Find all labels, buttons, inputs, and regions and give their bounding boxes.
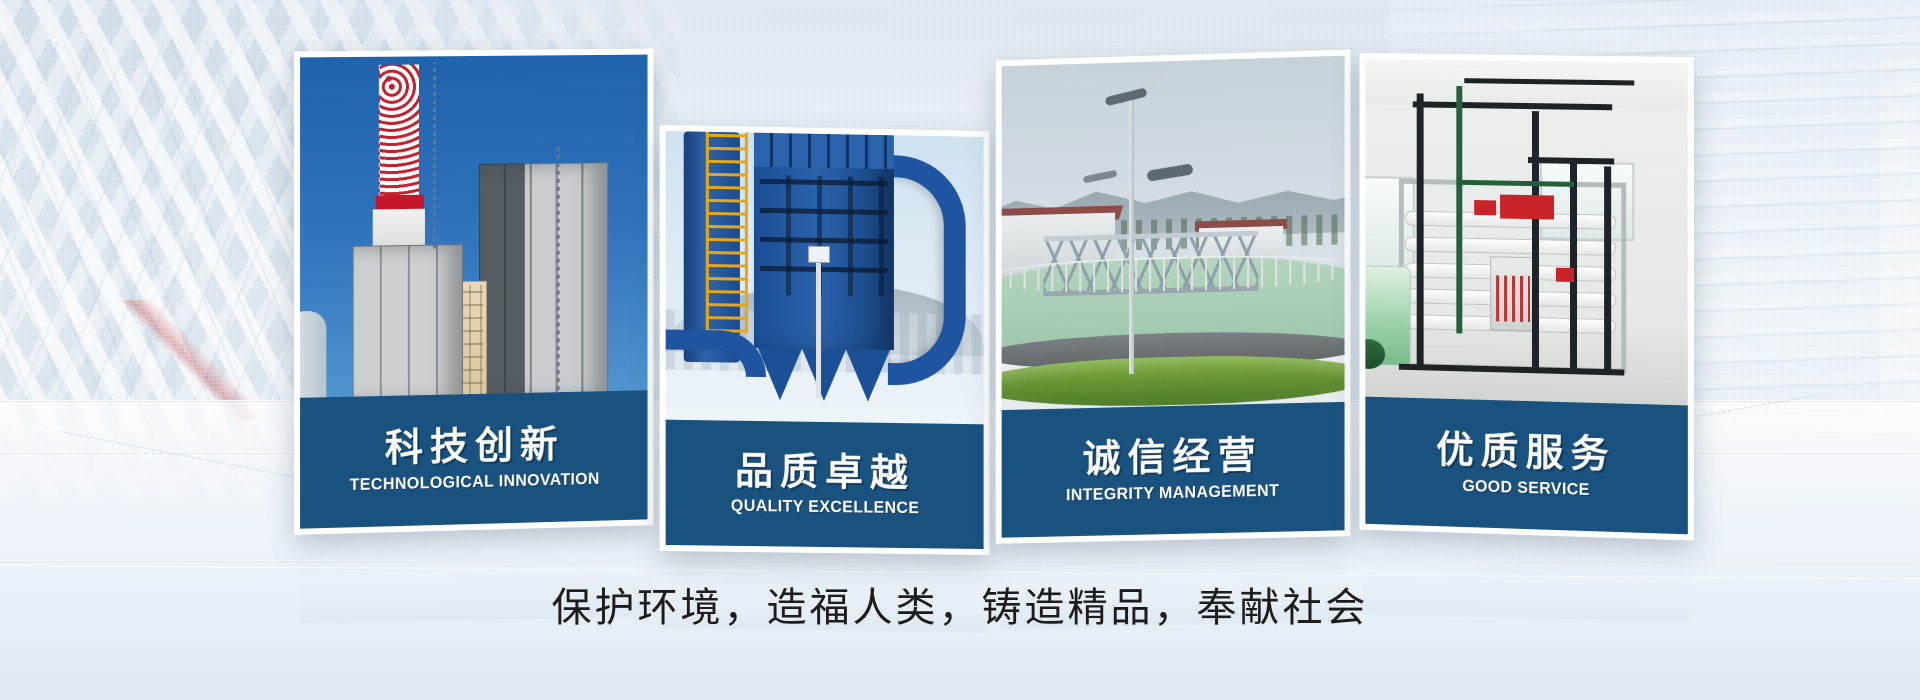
company-culture-banner: 科技创新 TECHNOLOGICAL INNOVATION [0, 0, 1920, 700]
panel-photo-1: 科技创新 TECHNOLOGICAL INNOVATION [300, 55, 647, 529]
panel-caption-cn-2: 品质卓越 [735, 450, 915, 495]
panel-caption-en-1: TECHNOLOGICAL INNOVATION [349, 469, 599, 495]
panel-caption-cn-4: 优质服务 [1436, 430, 1616, 478]
panel-caption-4: 优质服务 GOOD SERVICE [1365, 397, 1687, 535]
value-panel-technological-innovation[interactable]: 科技创新 TECHNOLOGICAL INNOVATION [294, 49, 653, 535]
panel-caption-cn-3: 诚信经营 [1083, 435, 1263, 482]
panel-photo-2: 品质卓越 QUALITY EXCELLENCE [666, 131, 984, 549]
banner-tagline: 保护环境，造福人类，铸造精品，奉献社会 [0, 575, 1920, 633]
panel-caption-cn-1: 科技创新 [385, 424, 565, 471]
panel-caption-en-2: QUALITY EXCELLENCE [731, 496, 919, 518]
panel-caption-3: 诚信经营 INTEGRITY MANAGEMENT [1002, 402, 1345, 538]
panel-caption-en-4: GOOD SERVICE [1462, 476, 1589, 500]
panel-photo-4: 优质服务 GOOD SERVICE [1365, 59, 1687, 534]
panel-photo-3: 诚信经营 INTEGRITY MANAGEMENT [1002, 56, 1345, 538]
panel-caption-2: 品质卓越 QUALITY EXCELLENCE [666, 420, 984, 549]
value-panel-quality-excellence[interactable]: 品质卓越 QUALITY EXCELLENCE [660, 125, 990, 555]
value-panel-integrity-management[interactable]: 诚信经营 INTEGRITY MANAGEMENT [996, 49, 1351, 543]
value-panel-good-service[interactable]: 优质服务 GOOD SERVICE [1359, 53, 1693, 541]
panel-caption-en-3: INTEGRITY MANAGEMENT [1066, 480, 1279, 505]
panel-caption-1: 科技创新 TECHNOLOGICAL INNOVATION [300, 390, 647, 528]
